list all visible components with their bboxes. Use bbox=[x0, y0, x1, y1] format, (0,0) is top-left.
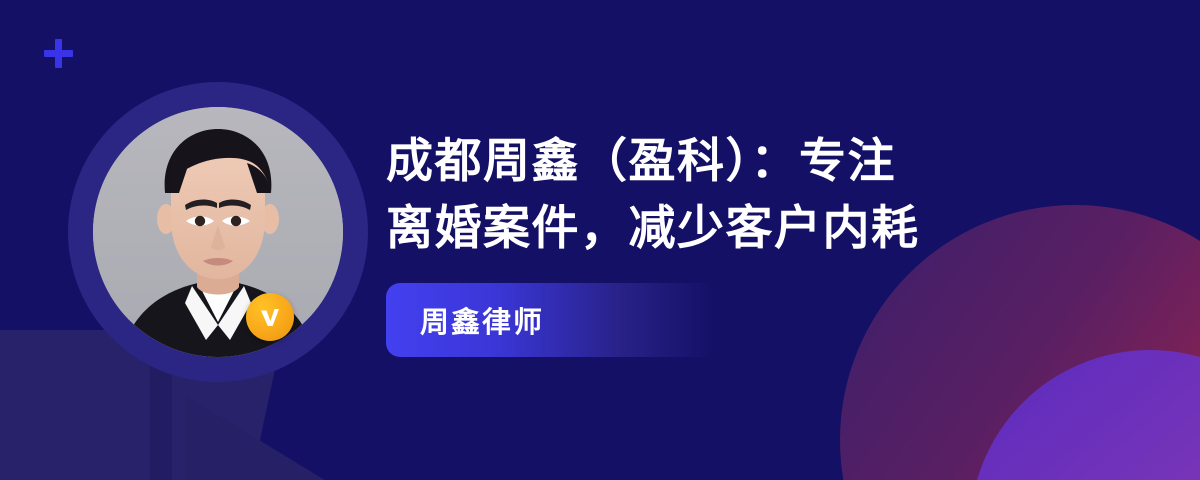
banner-card: 成都周鑫（盈科）：专注 离婚案件，减少客户内耗 周鑫律师 bbox=[0, 0, 1200, 480]
page-title: 成都周鑫（盈科）：专注 离婚案件，减少客户内耗 bbox=[386, 128, 1146, 261]
avatar-photo bbox=[93, 107, 343, 357]
content-block: 成都周鑫（盈科）：专注 离婚案件，减少客户内耗 周鑫律师 bbox=[386, 128, 1146, 357]
triangle-shape-middle bbox=[185, 395, 415, 480]
lawyer-name-pill[interactable]: 周鑫律师 bbox=[386, 283, 716, 357]
gradient-blob-inner bbox=[970, 350, 1200, 480]
verified-badge bbox=[246, 293, 294, 341]
plus-icon bbox=[44, 39, 73, 68]
avatar[interactable] bbox=[68, 82, 368, 382]
plus-icon-bar-vertical bbox=[55, 39, 62, 68]
